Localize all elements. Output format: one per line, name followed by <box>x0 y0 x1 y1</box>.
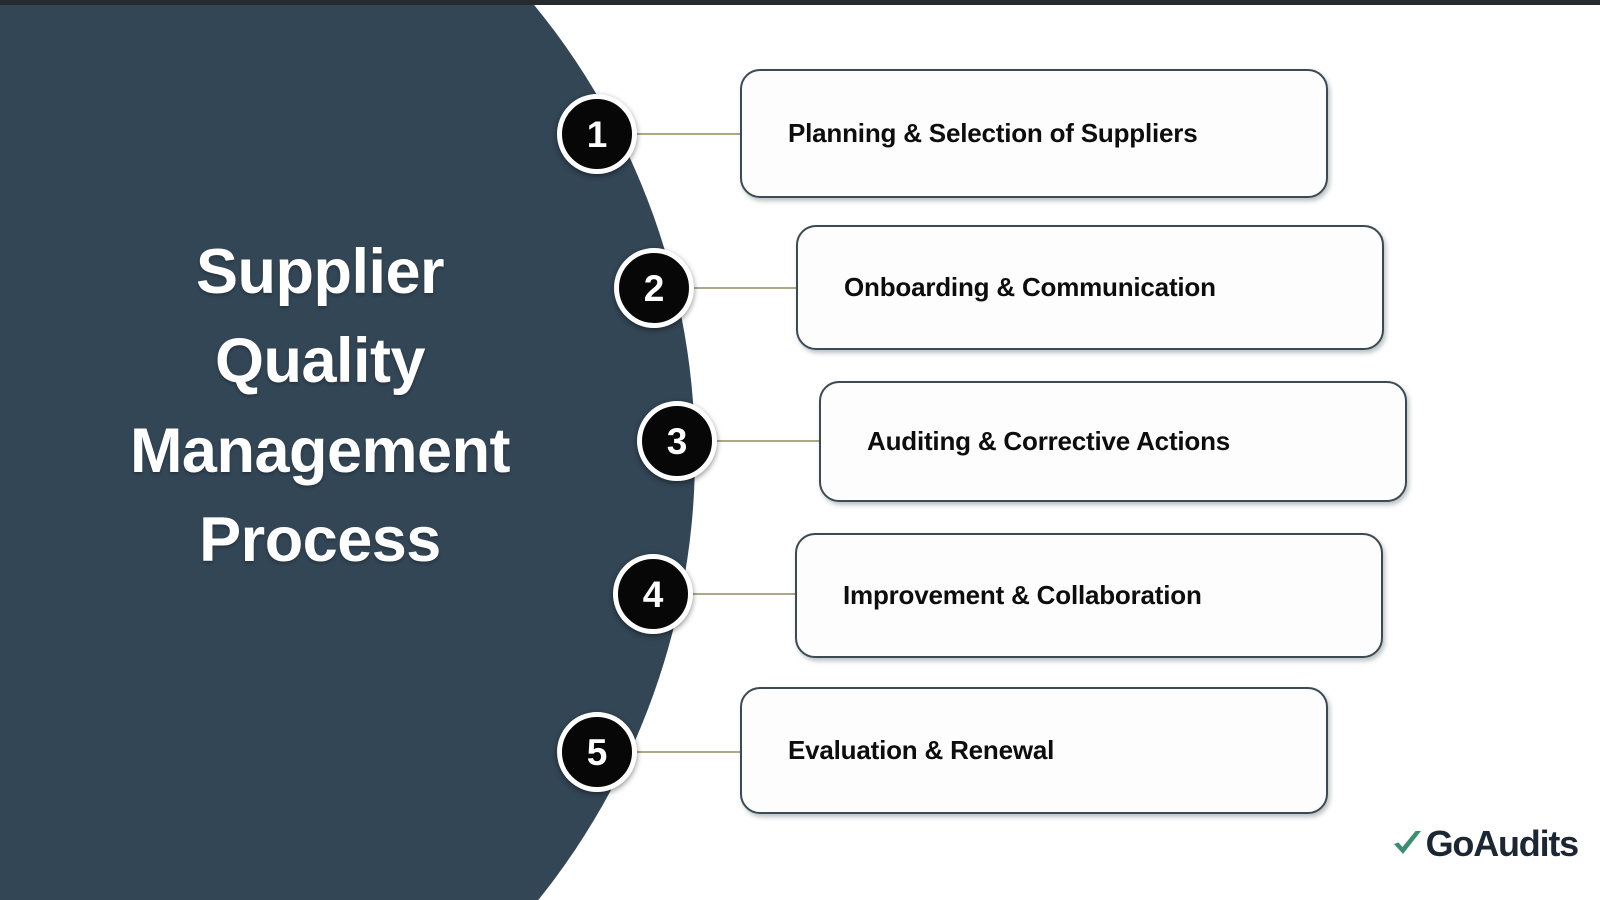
page-title: Supplier Quality Management Process <box>40 228 600 586</box>
check-icon <box>1390 827 1424 861</box>
step-card-3[interactable]: Auditing & Corrective Actions <box>819 381 1407 502</box>
step-number-5: 5 <box>587 734 608 771</box>
step-card-5[interactable]: Evaluation & Renewal <box>740 687 1328 814</box>
step-number-4: 4 <box>643 576 664 613</box>
step-badge-5[interactable]: 5 <box>557 712 637 792</box>
step-label-1: Planning & Selection of Suppliers <box>742 118 1197 149</box>
top-border-rule <box>0 0 1600 5</box>
title-line-4: Process <box>40 496 600 585</box>
step-number-3: 3 <box>667 423 688 460</box>
goaudits-logo: GoAudits <box>1390 826 1578 862</box>
title-line-1: Supplier <box>40 228 600 317</box>
title-line-2: Quality <box>40 317 600 406</box>
step-card-1[interactable]: Planning & Selection of Suppliers <box>740 69 1328 198</box>
step-badge-4[interactable]: 4 <box>613 554 693 634</box>
step-number-2: 2 <box>644 270 665 307</box>
infographic-canvas: Supplier Quality Management Process 1 Pl… <box>0 0 1600 900</box>
step-label-2: Onboarding & Communication <box>798 272 1216 303</box>
step-connector-3 <box>717 440 821 442</box>
step-badge-2[interactable]: 2 <box>614 248 694 328</box>
step-connector-1 <box>637 133 742 135</box>
step-number-1: 1 <box>587 116 608 153</box>
step-label-4: Improvement & Collaboration <box>797 580 1202 611</box>
step-label-3: Auditing & Corrective Actions <box>821 426 1230 457</box>
step-connector-4 <box>693 593 797 595</box>
step-badge-3[interactable]: 3 <box>637 401 717 481</box>
step-card-2[interactable]: Onboarding & Communication <box>796 225 1384 350</box>
title-line-3: Management <box>40 407 600 496</box>
step-label-5: Evaluation & Renewal <box>742 735 1054 766</box>
step-connector-5 <box>637 751 742 753</box>
step-badge-1[interactable]: 1 <box>557 94 637 174</box>
step-connector-2 <box>694 287 798 289</box>
logo-wordmark: GoAudits <box>1426 826 1578 862</box>
step-card-4[interactable]: Improvement & Collaboration <box>795 533 1383 658</box>
